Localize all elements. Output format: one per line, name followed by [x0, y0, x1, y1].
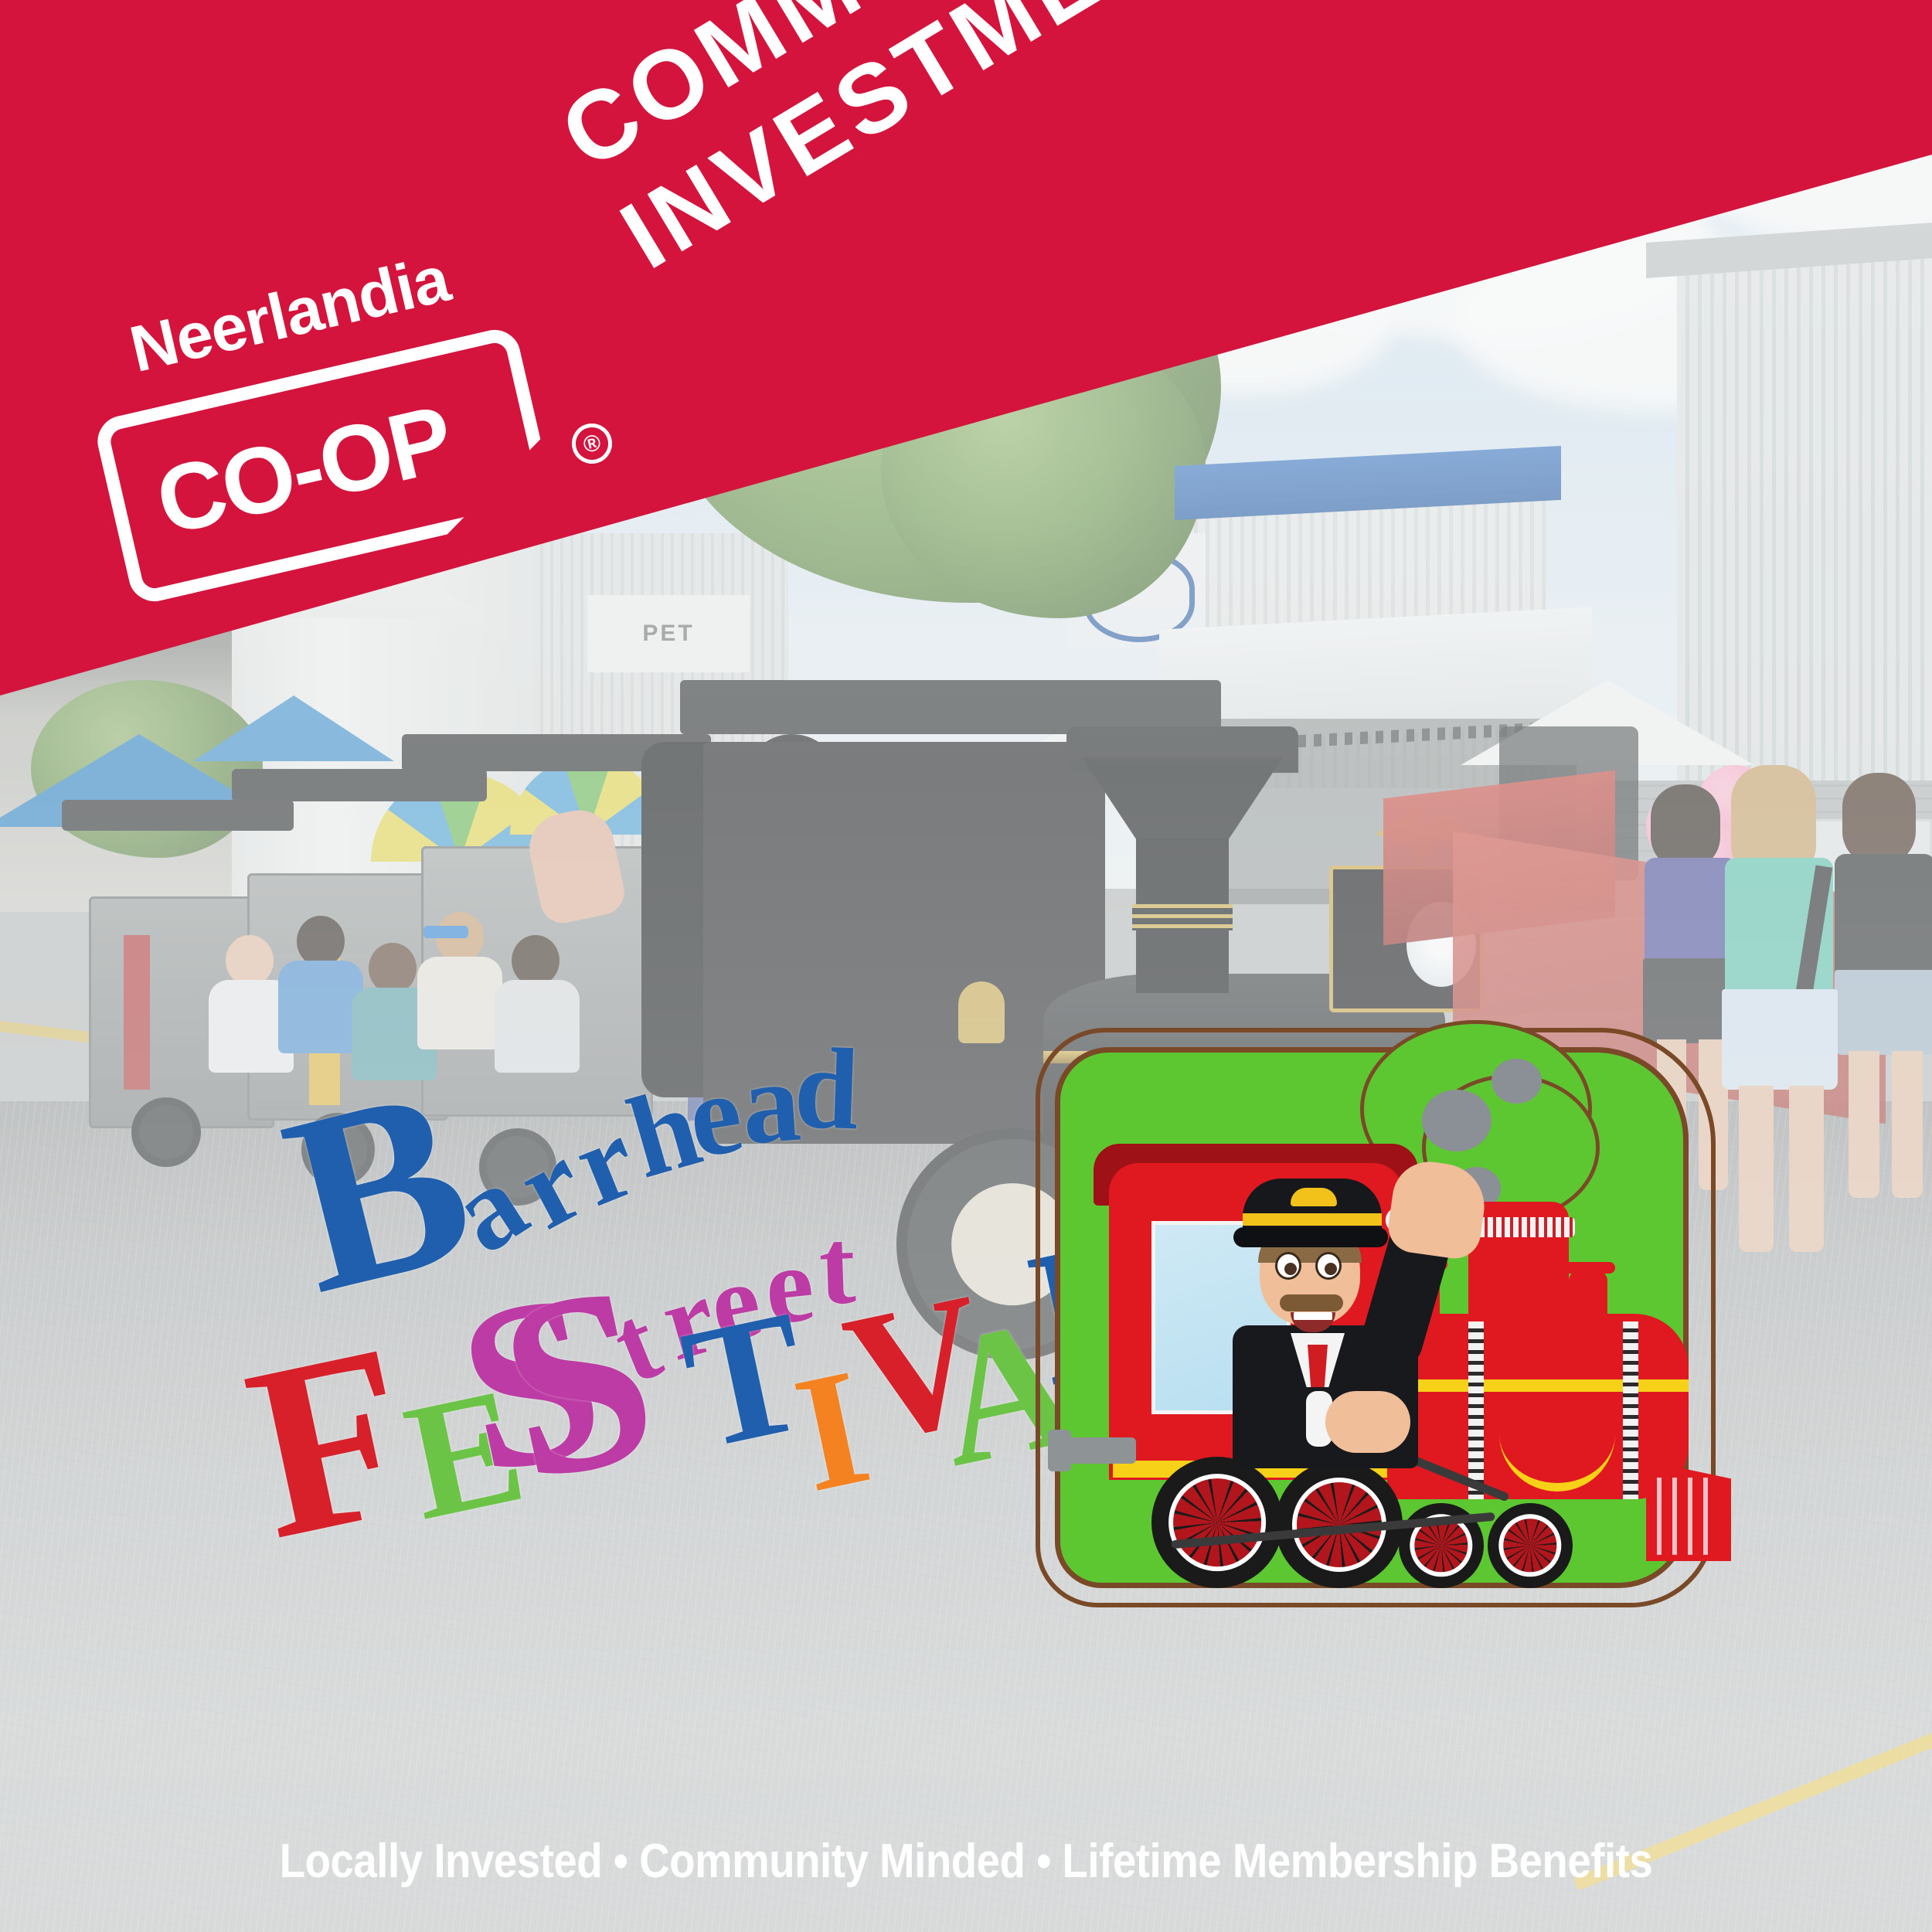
head	[369, 943, 417, 994]
smoke-puff	[1422, 1090, 1492, 1151]
mascot-wheel	[1151, 1457, 1283, 1588]
boiler-rivet-strip	[1468, 1321, 1484, 1499]
festival-letter: d	[793, 1039, 861, 1140]
boiler-rivet-strip	[1623, 1321, 1638, 1499]
cowcatcher	[1646, 1461, 1731, 1561]
head	[297, 916, 345, 967]
small-stack	[1569, 1271, 1607, 1322]
torso	[1835, 854, 1932, 978]
conductor-resting-hand	[1325, 1391, 1410, 1453]
boiler-yellow-stripe	[1387, 1379, 1689, 1392]
coach-canopy	[232, 769, 487, 801]
rear-buffer	[1066, 1437, 1136, 1464]
coop-wordmark: CO-OP	[147, 384, 461, 556]
head	[226, 935, 274, 986]
conductor-cap-badge-icon	[1291, 1188, 1337, 1206]
conductor-eye	[1275, 1252, 1301, 1280]
coach-panel	[124, 935, 150, 1090]
conductor-cap-brim	[1233, 1227, 1388, 1247]
leg	[1892, 1051, 1923, 1198]
torso	[1645, 858, 1737, 966]
shorts	[1835, 970, 1932, 1055]
conductor-moustache	[1280, 1294, 1343, 1311]
head	[512, 935, 560, 986]
head	[1651, 784, 1720, 869]
poster: Blinds by PET	[0, 0, 1932, 1932]
smoke-puff	[1492, 1059, 1542, 1104]
leg	[1849, 1051, 1879, 1198]
sunglasses	[423, 926, 468, 938]
neerlandia-coop-logo: Neerlandia CO-OP ®	[108, 255, 587, 580]
head	[1842, 773, 1916, 866]
footer-tagline: Locally Invested • Community Minded • Li…	[116, 1834, 1816, 1889]
smokestack-gold-rings	[1132, 904, 1233, 930]
leg	[1739, 1086, 1774, 1252]
shorts	[1722, 989, 1838, 1090]
conductor-cap-band	[1243, 1213, 1382, 1226]
coach-wheel	[131, 1097, 201, 1167]
leg	[1789, 1086, 1824, 1252]
conductor-eye	[1315, 1252, 1342, 1280]
mascot-wheel	[1488, 1503, 1573, 1588]
smokestack-funnel	[1082, 757, 1283, 842]
cartoon-train-mascot	[1036, 1028, 1731, 1631]
coach-canopy	[62, 800, 294, 831]
